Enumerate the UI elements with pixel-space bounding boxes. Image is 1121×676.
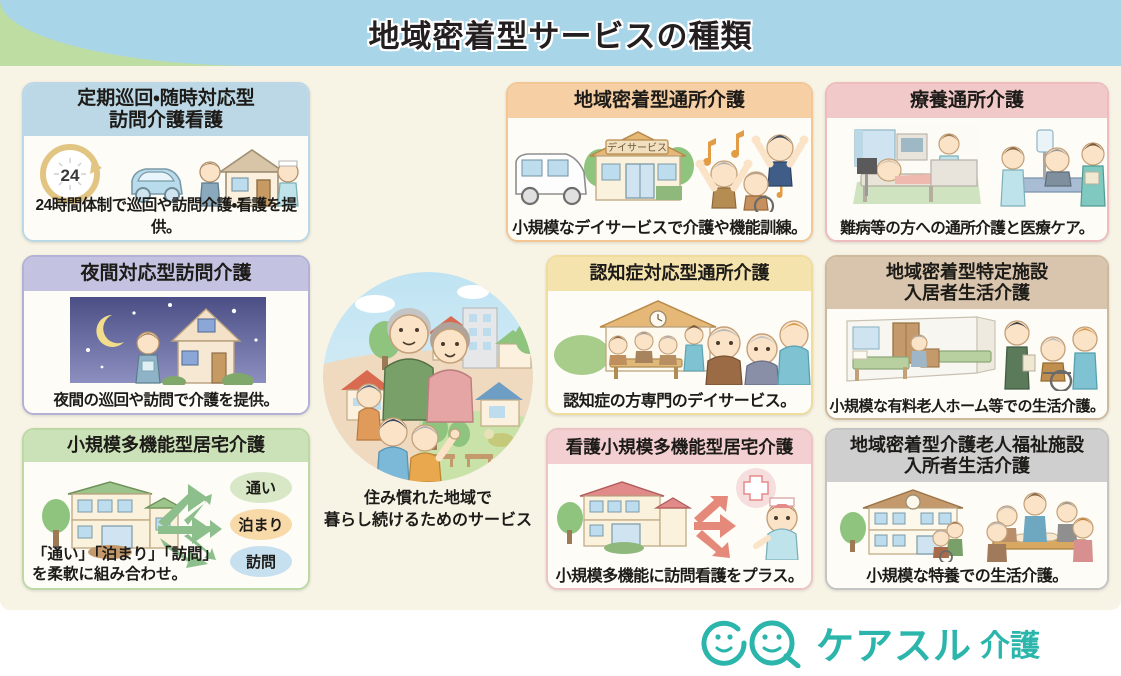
- card-body-yakan-taio: 夜間の巡回や訪問で介護を提供。: [24, 291, 308, 413]
- card-body-ninchisho-tsusho: 認知症の方専門のデイサービス。: [548, 291, 811, 413]
- illustration-day-service-van-seniors: デイサービス: [508, 120, 813, 212]
- page-title: 地域密着型サービスの種類: [0, 0, 1121, 66]
- card-caption-ryoyo-tsusho: 難病等の方への通所介護と医療ケア。: [827, 216, 1107, 238]
- card-title: 小規模多機能型居宅介護: [67, 435, 265, 456]
- card-header-tokutei-shisetsu: 地域密着型特定施設 入居者生活介護: [827, 257, 1107, 309]
- card-header-kango-shokibo: 看護小規模多機能型居宅介護: [548, 430, 811, 464]
- card-header-shokibo-takinou: 小規模多機能型居宅介護: [24, 430, 308, 462]
- card-body-kango-shokibo: 小規模多機能に訪問看護をプラス。: [548, 464, 811, 588]
- card-caption-teiki-junkai: 24時間体制で巡回や訪問介護・看護を提供。: [24, 193, 308, 237]
- card-caption-kango-shokibo: 小規模多機能に訪問看護をプラス。: [548, 562, 811, 586]
- logo-subtext: 介護: [980, 621, 1040, 665]
- center-circle: [323, 272, 533, 482]
- card-body-rojin-fukushi: 小規模な特養での生活介護。: [827, 482, 1107, 588]
- community-circle-illustration-icon: [323, 272, 533, 482]
- card-header-rojin-fukushi: 地域密着型介護老人福祉施設 入所者生活介護: [827, 430, 1107, 482]
- illustration-building-arrows-cross-nurse: [548, 466, 813, 560]
- card-body-tokutei-shisetsu: 小規模な有料老人ホーム等での生活介護。: [827, 309, 1107, 418]
- center-caption-line2: 暮らし続けるためのサービス: [312, 510, 544, 532]
- pill-tomari: 泊まり: [230, 509, 292, 540]
- logo-text: ケアスル: [816, 615, 972, 670]
- svg-text:24: 24: [61, 166, 80, 185]
- card-body-ryoyo-tsusho: 難病等の方への通所介護と医療ケア。: [827, 118, 1107, 240]
- card-shokibo-takinou[interactable]: 小規模多機能型居宅介護: [22, 428, 310, 590]
- card-body-chiiki-tsusho: デイサービス: [508, 118, 811, 240]
- card-title-line2: 入所者生活介護: [850, 456, 1084, 477]
- card-yakan-taio[interactable]: 夜間対応型訪問介護: [22, 255, 310, 415]
- card-chiiki-tsusho[interactable]: 地域密着型通所介護 デイサービス: [506, 82, 813, 242]
- pill-homon: 訪問: [230, 546, 292, 577]
- card-ninchisho-tsusho[interactable]: 認知症対応型通所介護: [546, 255, 813, 415]
- card-caption-ninchisho-tsusho: 認知症の方専門のデイサービス。: [548, 387, 811, 411]
- card-title-line2: 訪問介護看護: [77, 110, 254, 132]
- card-caption-yakan-taio: 夜間の巡回や訪問で介護を提供。: [24, 388, 308, 410]
- illustration-tokuyo-building-dining-table: [827, 484, 1109, 562]
- card-caption-rojin-fukushi: 小規模な特養での生活介護。: [827, 562, 1107, 586]
- card-teiki-junkai[interactable]: 定期巡回・随時対応型 訪問介護看護 24: [22, 82, 310, 242]
- illustration-dementia-day-service-table: [548, 293, 813, 385]
- card-header-ninchisho-tsusho: 認知症対応型通所介護: [548, 257, 811, 291]
- card-caption-tokutei-shisetsu: 小規模な有料老人ホーム等での生活介護。: [827, 395, 1107, 416]
- card-title-line1: 地域密着型特定施設: [886, 262, 1048, 283]
- card-header-ryoyo-tsusho: 療養通所介護: [827, 84, 1107, 118]
- card-body-teiki-junkai: 24: [24, 136, 308, 240]
- center-illustration-block: 住み慣れた地域で 暮らし続けるためのサービス: [312, 272, 544, 552]
- infographic-canvas: 地域密着型サービスの種類 定期巡回・随時対応型 訪問介護看護 24: [0, 0, 1121, 676]
- card-tokutei-shisetsu[interactable]: 地域密着型特定施設 入居者生活介護: [825, 255, 1109, 420]
- brand-logo[interactable]: ケアスル 介護: [700, 615, 1100, 670]
- card-title: 看護小規模多機能型居宅介護: [566, 437, 794, 458]
- caption-line1: 「通い」「泊まり」「訪問」: [32, 545, 218, 564]
- card-header-chiiki-tsusho: 地域密着型通所介護: [508, 84, 811, 118]
- pill-kayoi: 通い: [230, 472, 292, 503]
- card-title: 療養通所介護: [910, 90, 1024, 112]
- card-kango-shokibo[interactable]: 看護小規模多機能型居宅介護: [546, 428, 813, 590]
- card-title: 認知症対応型通所介護: [590, 263, 770, 284]
- card-caption-chiiki-tsusho: 小規模なデイサービスで介護や機能訓練。: [508, 214, 811, 238]
- illustration-private-room-bed-wheelchair: [827, 311, 1109, 391]
- card-title-line1: 定期巡回・随時対応型: [77, 88, 254, 110]
- two-smiley-faces-icon: [700, 618, 808, 668]
- center-caption-line1: 住み慣れた地域で: [312, 488, 544, 510]
- building-sign-label: デイサービス: [607, 141, 667, 154]
- illustration-medical-room-bed-nurses: [827, 120, 1109, 212]
- illustration-night-moon-house-caregiver: [24, 295, 310, 385]
- card-header-yakan-taio: 夜間対応型訪問介護: [24, 257, 308, 291]
- card-ryoyo-tsusho[interactable]: 療養通所介護: [825, 82, 1109, 242]
- card-rojin-fukushi[interactable]: 地域密着型介護老人福祉施設 入所者生活介護: [825, 428, 1109, 590]
- caption-line2: を柔軟に組み合わせ。: [32, 565, 218, 584]
- card-header-teiki-junkai: 定期巡回・随時対応型 訪問介護看護: [24, 84, 308, 136]
- card-title: 地域密着型通所介護: [574, 90, 745, 112]
- card-title-line2: 入居者生活介護: [886, 283, 1048, 304]
- card-title: 夜間対応型訪問介護: [80, 263, 251, 285]
- card-body-shokibo-takinou: 通い 泊まり 訪問 「通い」「泊まり」「訪問」 を柔軟に組み合わせ。: [24, 462, 308, 588]
- center-caption: 住み慣れた地域で 暮らし続けるためのサービス: [312, 488, 544, 531]
- card-title-line1: 地域密着型介護老人福祉施設: [850, 435, 1084, 456]
- card-caption-shokibo-takinou: 「通い」「泊まり」「訪問」 を柔軟に組み合わせ。: [32, 545, 218, 584]
